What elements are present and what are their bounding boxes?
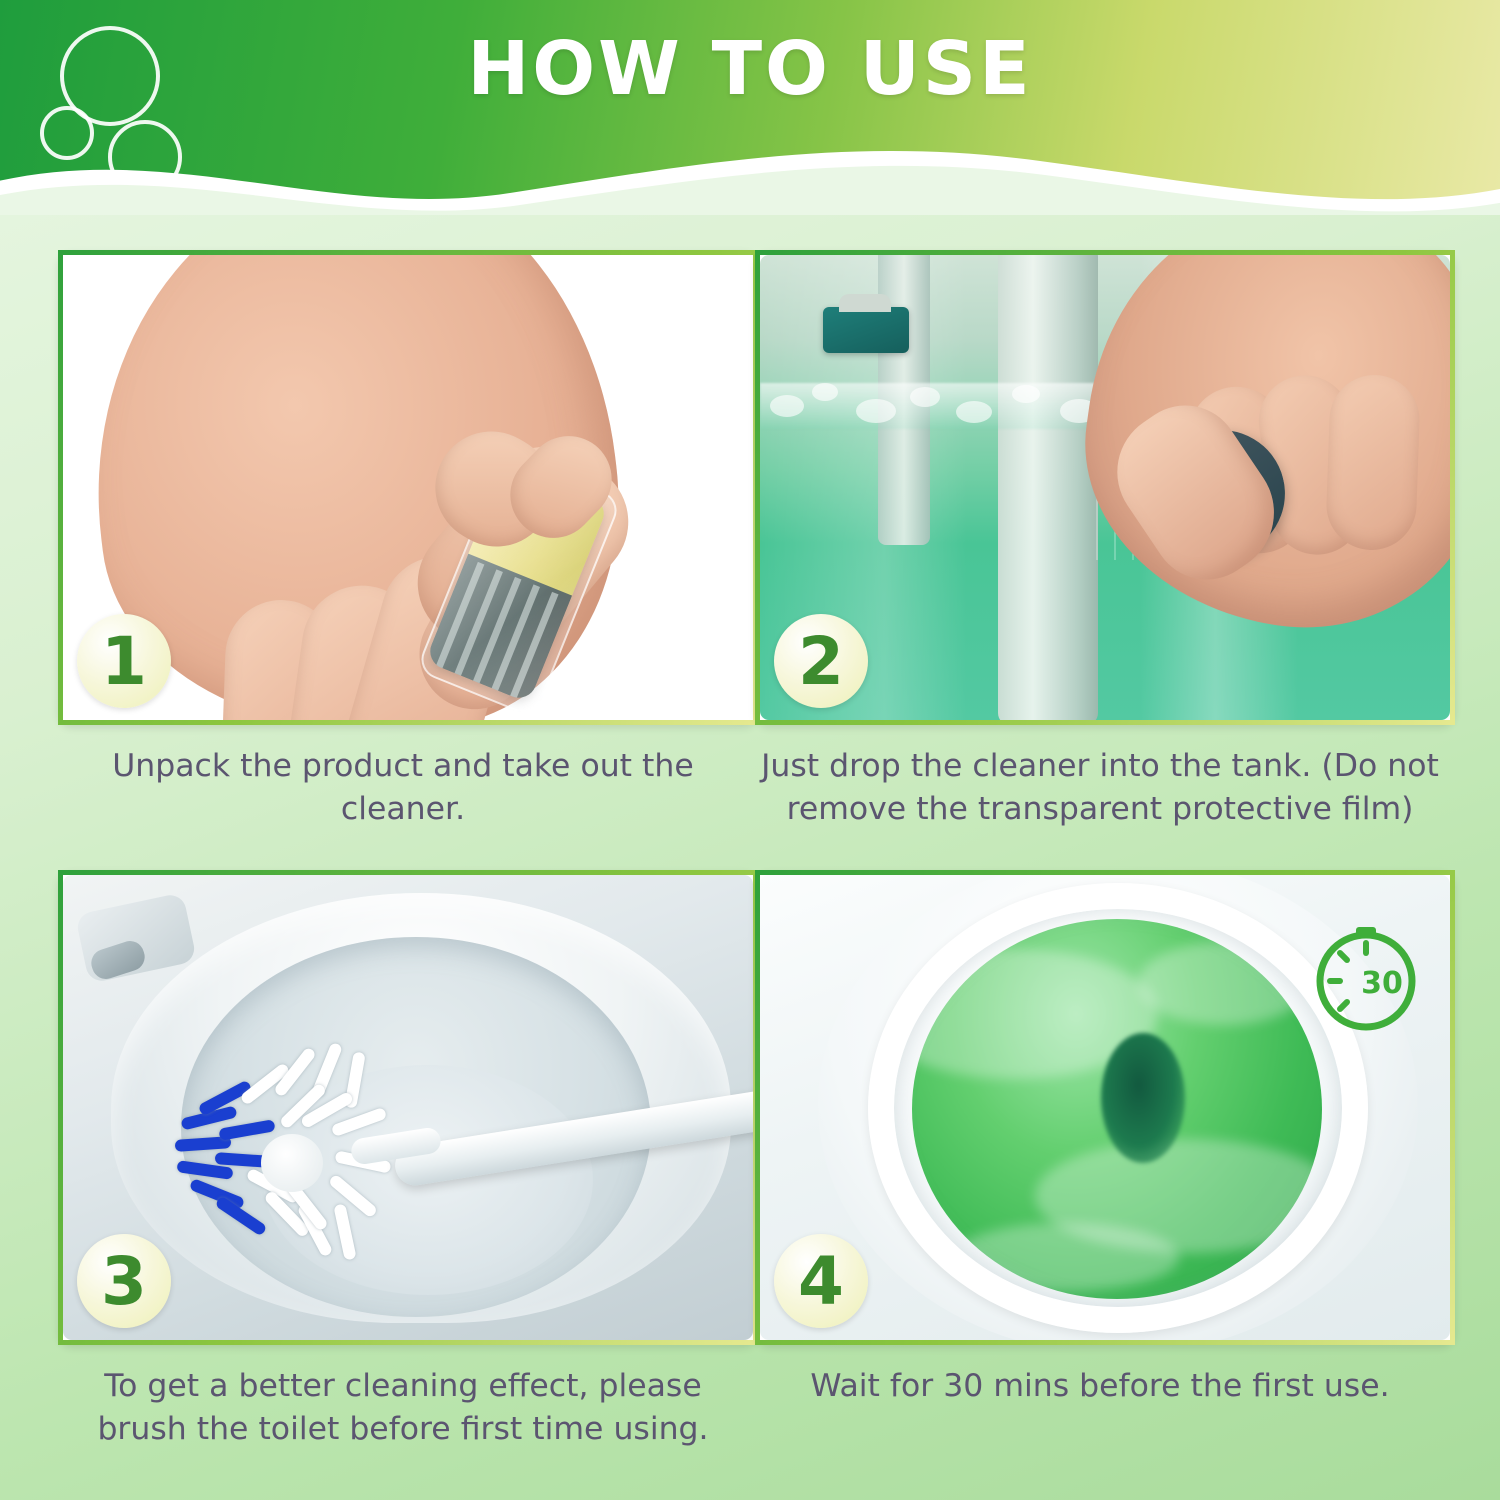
step-card-3: 3 To get a better cleaning effect, pleas… [58,870,748,1451]
step-number-badge-4: 4 [774,1234,868,1328]
toilet-seat [868,883,1368,1333]
steps-grid: 1 Unpack the product and take out the cl… [0,215,1500,1500]
step-number-badge-2: 2 [774,614,868,708]
step-card-4: 30 4 Wait for 30 mins before the first u… [755,870,1445,1408]
finger [1325,373,1421,551]
step-2-photo-frame: 2 [755,250,1455,725]
step-number-badge-1: 1 [77,614,171,708]
step-3-photo-frame: 3 [58,870,758,1345]
step-card-1: 1 Unpack the product and take out the cl… [58,250,748,831]
tank-fill-valve [998,255,1098,720]
header-wave-divider [0,131,1500,215]
header-banner: HOW TO USE [0,0,1500,215]
step-caption-1: Unpack the product and take out the clea… [58,745,748,831]
step-4-photo-frame: 30 4 [755,870,1455,1345]
step-caption-3: To get a better cleaning effect, please … [58,1365,748,1451]
step-card-2: 2 Just drop the cleaner into the tank. (… [755,250,1445,831]
tank-clip [823,307,909,353]
step-caption-4: Wait for 30 mins before the first use. [755,1365,1445,1408]
step-caption-2: Just drop the cleaner into the tank. (Do… [755,745,1445,831]
page-title: HOW TO USE [0,26,1500,112]
timer-30-min-icon: 30 [1310,923,1422,1035]
step-1-photo-frame: 1 [58,250,758,725]
how-to-use-infographic: HOW TO USE [0,0,1500,1500]
timer-value: 30 [1361,966,1403,1001]
step-number-badge-3: 3 [77,1234,171,1328]
